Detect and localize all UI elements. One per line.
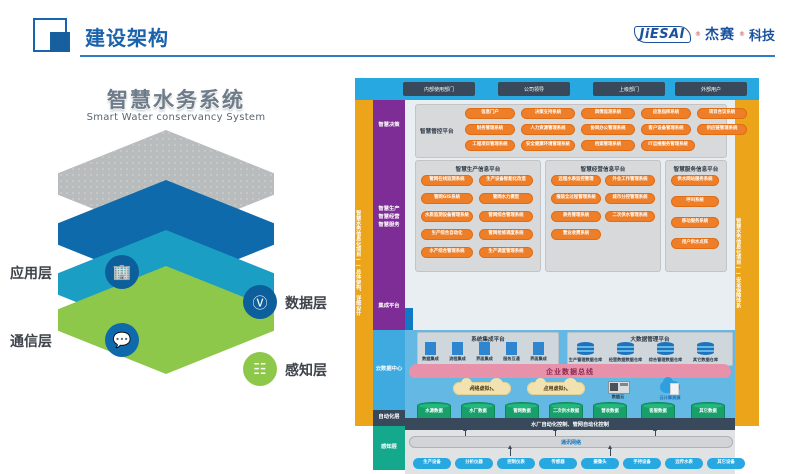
layer-sidebar: 智慧决策 智慧生产信息平台 智慧生产 智慧经营 智慧服务 集成平台 云数据中心 … [373,100,405,426]
cp-item-6[interactable]: 人力资源管理系统 [521,124,575,135]
integration-icon-0 [425,342,436,355]
cp-item-3[interactable]: 应急指挥系统 [641,108,691,119]
layer-label-data: 数据层 [285,293,327,313]
architecture-diagram: 内部使用部门 公司领导 上级部门 外部用户 智慧水务信息化项目——总体架构、详细… [355,78,759,426]
oper-item-0[interactable]: 远程水表监控管理 [551,175,601,186]
bigdata-label-3: 其它数据仓库 [687,357,724,363]
left-band-label: 智慧水务信息化项目——总体架构、详细设计 [355,100,360,426]
prod-item-9[interactable]: 生产调度管理系统 [479,247,533,258]
shield-icon: Ⓥ [243,285,277,319]
logo-square-fill [50,32,70,52]
service-platform-title: 智慧服务信息平台 [666,165,726,173]
sidebar-layer-decision[interactable]: 智慧决策 [373,100,405,152]
cp-item-12[interactable]: 档案管理系统 [581,140,635,151]
brand-trademark-1: ® [695,31,701,38]
sensor-camera[interactable]: 摄像头 [581,458,619,469]
svc-item-1[interactable]: 呼叫系统 [671,196,719,207]
right-vertical-band: 智慧水务信息化项目——安全保障体系 [735,100,759,426]
layer-label-communication: 通信层 [10,331,52,351]
production-platform-title: 智慧生产信息平台 [416,165,540,173]
cp-item-5[interactable]: 财务管理系统 [465,124,515,135]
cloud-app-virtualization: 应用虚拟化 [527,382,585,395]
layer-label-perception: 感知层 [285,360,327,380]
cp-item-9[interactable]: 供应链管理系统 [697,124,747,135]
cp-item-10[interactable]: 工程项目管理系统 [465,140,515,151]
integration-icon-1 [452,342,463,355]
integration-icon-4 [533,342,544,355]
network-icon: ☷ [243,352,277,386]
sidebar-layer-business[interactable]: 智慧生产信息平台 智慧生产 智慧经营 智慧服务 [373,152,405,284]
integration-label-2: 界面集成 [471,356,498,362]
sidebar-layer-cloud-datacenter[interactable]: 云数据中心 [373,330,405,410]
cp-item-1[interactable]: 决策支持系统 [521,108,575,119]
sensor-analysis-instrument[interactable]: 分析仪器 [455,458,493,469]
prod-item-1[interactable]: 生产设备智能化改造 [479,175,533,186]
integration-label-1: 流程集成 [444,356,471,362]
cp-item-7[interactable]: 协同办公管理系统 [581,124,635,135]
svc-item-3[interactable]: 用户供水点阵 [671,238,719,249]
stakeholder-internal-dept[interactable]: 内部使用部门 [403,82,475,96]
integration-label-4: 界面集成 [525,356,552,362]
oper-item-2[interactable]: 报装全过程管理系统 [551,193,601,204]
prod-item-2[interactable]: 管网GIS系统 [421,193,473,204]
oper-item-3[interactable]: 城市分控管理系统 [605,193,655,204]
cp-item-2[interactable]: 舆情监测系统 [581,108,635,119]
bigdata-label-2: 综合管理数据仓库 [647,357,684,363]
pyramid-panel: 智慧水务系统 Smart Water conservancy System 🏢 … [0,70,352,446]
server-icon [608,381,630,394]
stakeholder-superior-dept[interactable]: 上级部门 [593,82,665,96]
prod-item-7[interactable]: 管网抢修调度系统 [479,229,533,240]
page-title: 建设架构 [85,22,169,51]
sidebar-layer-integration[interactable]: 集成平台 [373,284,405,330]
brand-chinese-name: 杰赛 [705,24,735,44]
brand-latin-mark: JiESAI [634,26,691,43]
page-header: 建设架构 JiESAI ® 杰赛 ® 科技 [0,0,793,70]
chat-icon: 💬 [105,323,139,357]
oper-item-5[interactable]: 二次供水管理系统 [605,211,655,222]
bigdata-label-0: 生产管理数据仓库 [567,357,604,363]
enterprise-data-bus: 企业数据总线 [409,364,731,379]
cp-item-11[interactable]: 安全健康环境管理系统 [521,140,575,151]
control-platform-title: 智慧管控平台 [420,127,454,135]
integration-icon-3 [506,342,517,355]
left-vertical-band: 智慧水务信息化项目——总体架构、详细设计 [355,100,373,426]
sensor-remote-water-meter[interactable]: 远传水表 [665,458,703,469]
cloudcompute-label: 云计算资源 [651,395,689,401]
prod-item-6[interactable]: 生产综合自动化 [421,229,473,240]
prod-item-3[interactable]: 管网水力模型 [479,193,533,204]
datacloud-label: 数据云 [601,394,635,400]
stakeholder-external-users[interactable]: 外部用户 [675,82,747,96]
integration-icon-2 [479,342,490,355]
sidebar-layer-perception[interactable]: 感知层 [373,426,405,470]
cp-item-8[interactable]: 客户设备管理系统 [641,124,691,135]
bigdata-label-1: 经营数据数据仓库 [607,357,644,363]
oper-item-6[interactable]: 营业收费系统 [551,229,601,240]
downlink-arrow-1 [510,448,511,456]
svc-item-0[interactable]: 供水网站服务系统 [671,175,719,186]
bigdata-icon-1 [617,342,634,355]
sensor-transducer[interactable]: 传感器 [539,458,577,469]
automation-control-bar: 水厂自动化控制、管网自动化控制 [405,418,735,430]
sensor-control-meter[interactable]: 控制仪表 [497,458,535,469]
layer-slab-perception [58,266,274,374]
brand-suffix: 科技 [749,25,775,44]
sidebar-layer-operation: 智慧经营 [378,214,399,222]
integration-label-3: 服务互通 [498,356,525,362]
cp-item-0[interactable]: 信息门户 [465,108,515,119]
oper-item-1[interactable]: 外业工作管理系统 [605,175,655,186]
sidebar-layer-automation[interactable]: 自动化层 [373,410,405,426]
bigdata-icon-0 [577,342,594,355]
sidebar-layer-production: 智慧生产 [378,206,399,214]
stakeholder-company-leaders[interactable]: 公司领导 [498,82,570,96]
cp-item-4[interactable]: 项目合议系统 [697,108,747,119]
header-divider [80,55,775,57]
prod-item-5[interactable]: 管网综合管理系统 [479,211,533,222]
bigdata-icon-2 [657,342,674,355]
operation-platform-title: 智慧经营信息平台 [546,165,660,173]
layer-label-application: 应用层 [10,263,52,283]
svc-item-2[interactable]: 移动服务系统 [671,217,719,228]
cp-item-13[interactable]: IT运维服务管理系统 [641,140,695,151]
communication-network-pipe: 通讯网络 [409,436,733,448]
oper-item-4[interactable]: 表务管理系统 [551,211,601,222]
system-subtitle: Smart Water conservancy System [0,112,352,123]
brand-logo: JiESAI ® 杰赛 ® 科技 [634,24,775,44]
layer-stack [58,128,298,378]
prod-item-4[interactable]: 水质监测设备管理系统 [421,211,473,222]
sensor-other-equipment[interactable]: 其它设备 [707,458,745,469]
downlink-arrow-2 [610,448,611,456]
right-band-label: 智慧水务信息化项目——安全保障体系 [735,100,740,426]
sidebar-layer-service: 智慧服务 [378,222,399,230]
cloud-network-virtualization: 网络虚拟化 [453,382,511,395]
system-title: 智慧水务系统 [0,84,352,114]
sensor-production-equipment[interactable]: 生产设备 [413,458,451,469]
brand-trademark-2: ® [739,31,745,38]
integration-label-0: 数据集成 [417,356,444,362]
cloud-icon [660,381,680,393]
stakeholder-band: 内部使用部门 公司领导 上级部门 外部用户 [355,78,759,100]
bigdata-icon-3 [697,342,714,355]
sensor-handheld-device[interactable]: 手持设备 [623,458,661,469]
prod-item-0[interactable]: 管网在线监测系统 [421,175,473,186]
prod-item-8[interactable]: 水产综合管理系统 [421,247,473,258]
building-icon: 🏢 [105,255,139,289]
